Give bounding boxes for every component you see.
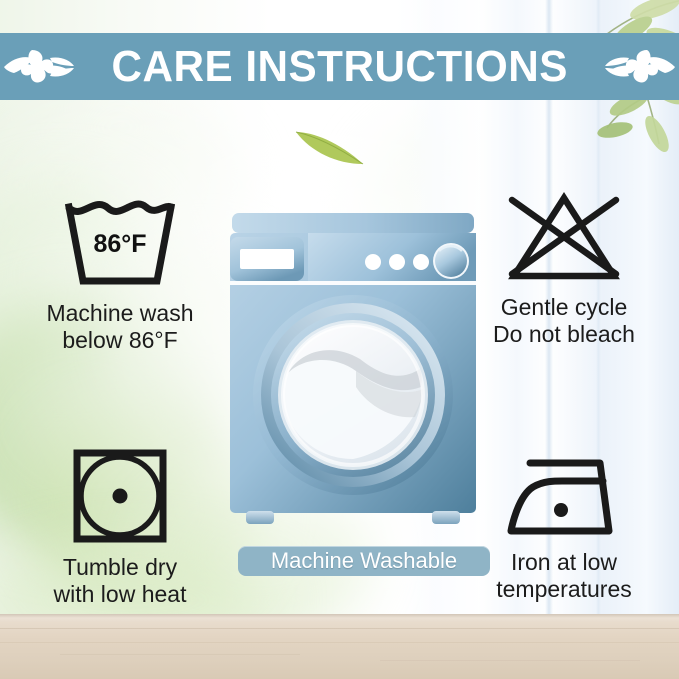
care-item-iron: Iron at low temperatures xyxy=(452,455,676,603)
header-banner: CARE INSTRUCTIONS xyxy=(0,33,679,100)
care-item-label: Gentle cycle Do not bleach xyxy=(452,294,676,348)
triangle-crossed-out-icon xyxy=(502,190,626,286)
care-item-tumble-dry: Tumble dry with low heat xyxy=(14,446,226,608)
wash-temperature-value: 86°F xyxy=(93,230,146,258)
care-item-label: Tumble dry with low heat xyxy=(14,554,226,608)
care-item-label: Iron at low temperatures xyxy=(452,549,676,603)
badge-label: Machine Washable xyxy=(271,550,457,572)
washing-machine-illustration xyxy=(228,205,478,535)
care-instructions-infographic: CARE INSTRUCTIONS xyxy=(0,0,679,679)
iron-one-dot-icon xyxy=(499,455,629,541)
tumble-dry-square-icon xyxy=(68,446,172,546)
care-item-label: Machine wash below 86°F xyxy=(14,300,226,354)
table-edge-shadow xyxy=(0,614,679,618)
care-item-gentle-cycle-no-bleach: Gentle cycle Do not bleach xyxy=(452,190,676,348)
wooden-table-surface xyxy=(0,614,679,679)
wash-tub-icon: 86°F xyxy=(58,196,182,292)
fleur-de-lis-icon xyxy=(603,46,677,88)
page-title: CARE INSTRUCTIONS xyxy=(111,45,567,89)
floating-leaf-icon xyxy=(293,122,367,168)
fleur-de-lis-icon xyxy=(2,46,76,88)
care-item-machine-wash: 86°F Machine wash below 86°F xyxy=(14,196,226,354)
